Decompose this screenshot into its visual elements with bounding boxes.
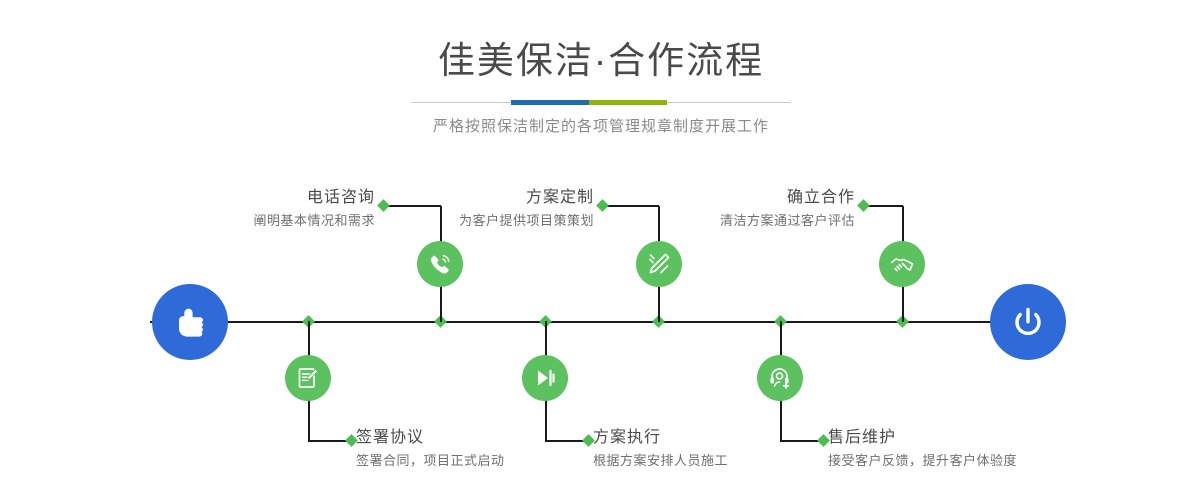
step-title: 签署协议 <box>356 428 505 448</box>
label-marker <box>596 199 609 212</box>
connector-horizontal <box>545 440 587 442</box>
pen-design-icon <box>645 250 673 278</box>
headset-support-icon <box>767 365 793 391</box>
step-desc: 阐明基本情况和需求 <box>135 211 375 230</box>
step-desc: 清洁方案通过客户评估 <box>615 211 855 230</box>
step-icon-document-edit <box>285 355 331 401</box>
step-title: 方案执行 <box>593 428 728 448</box>
power-icon <box>1006 300 1050 344</box>
document-edit-icon <box>295 365 321 391</box>
step-label-5: 确立合作 清洁方案通过客户评估 <box>615 188 855 230</box>
infographic-canvas: 佳美保洁·合作流程 严格按照保洁制定的各项管理规章制度开展工作 <box>0 0 1202 502</box>
step-label-3: 方案定制 为客户提供项目策策划 <box>354 188 594 230</box>
step-label-1: 电话咨询 阐明基本情况和需求 <box>135 188 375 230</box>
step-label-4: 方案执行 根据方案安排人员施工 <box>593 428 728 470</box>
timeline-start-node <box>152 284 228 360</box>
timeline-end-node <box>990 284 1066 360</box>
step-label-6: 售后维护 接受客户反馈，提升客户体验度 <box>828 428 1017 470</box>
label-marker <box>857 199 870 212</box>
step-label-2: 签署协议 签署合同，项目正式启动 <box>356 428 505 470</box>
step-desc: 为客户提供项目策策划 <box>354 211 594 230</box>
handshake-icon <box>888 250 916 278</box>
step-desc: 根据方案安排人员施工 <box>593 451 728 470</box>
step-title: 售后维护 <box>828 428 1017 448</box>
step-title: 方案定制 <box>354 188 594 208</box>
step-icon-headset-support <box>757 355 803 401</box>
connector-horizontal <box>780 440 822 442</box>
step-title: 电话咨询 <box>135 188 375 208</box>
play-execute-icon <box>532 365 558 391</box>
step-icon-play-execute <box>522 355 568 401</box>
step-icon-phone-call <box>417 241 463 287</box>
timeline-axis <box>150 321 1052 323</box>
phone-call-icon <box>426 250 454 278</box>
process-timeline: 电话咨询 阐明基本情况和需求 签署协议 签署合同，项目正式启动 <box>0 0 1202 502</box>
connector-horizontal <box>308 440 350 442</box>
pointing-hand-icon <box>168 300 212 344</box>
step-desc: 签署合同，项目正式启动 <box>356 451 505 470</box>
step-icon-pen-design <box>636 241 682 287</box>
step-desc: 接受客户反馈，提升客户体验度 <box>828 451 1017 470</box>
step-title: 确立合作 <box>615 188 855 208</box>
step-icon-handshake <box>879 241 925 287</box>
